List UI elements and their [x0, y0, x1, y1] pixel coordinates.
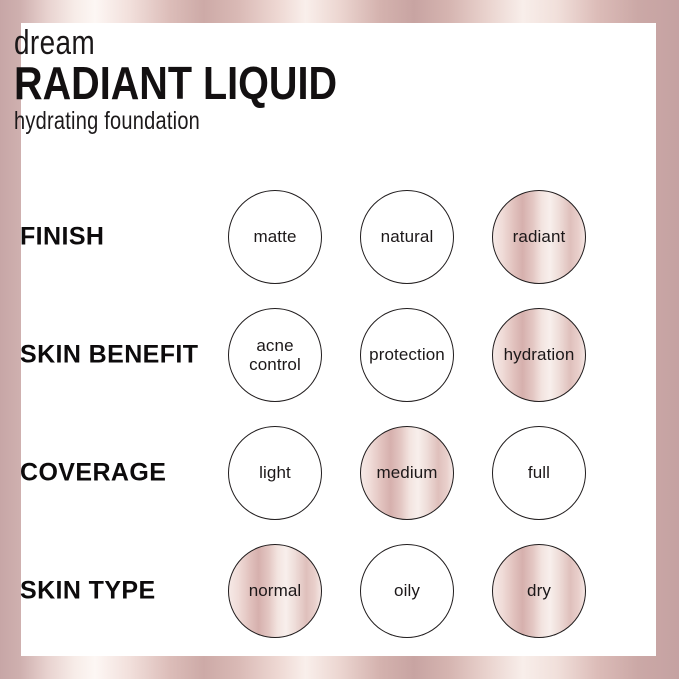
attribute-row: SKIN BENEFITacne controlprotectionhydrat… [0, 296, 635, 414]
attribute-grid: FINISHmattenaturalradiantSKIN BENEFITacn… [0, 178, 635, 650]
attribute-option-label: hydration [500, 345, 579, 364]
attribute-row-label: SKIN TYPE [20, 577, 156, 606]
attribute-row-label: COVERAGE [20, 459, 166, 488]
product-name-radiant-liquid: RADIANT LIQUID [14, 59, 375, 107]
product-infographic-frame: dream RADIANT LIQUID hydrating foundatio… [0, 0, 679, 679]
attribute-option[interactable]: medium [360, 426, 454, 520]
product-subtitle-hydrating-foundation: hydrating foundation [14, 108, 350, 134]
attribute-option-circle[interactable]: natural [360, 190, 454, 284]
attribute-option-circle-selected[interactable]: hydration [492, 308, 586, 402]
attribute-row-label: FINISH [20, 223, 104, 252]
attribute-row: COVERAGElightmediumfull [0, 414, 635, 532]
attribute-option[interactable]: dry [492, 544, 586, 638]
attribute-option-circle[interactable]: acne control [228, 308, 322, 402]
attribute-option[interactable]: natural [360, 190, 454, 284]
product-title-block: dream RADIANT LIQUID hydrating foundatio… [14, 26, 434, 134]
attribute-option-circle[interactable]: full [492, 426, 586, 520]
attribute-option-label: normal [245, 581, 306, 600]
attribute-option[interactable]: normal [228, 544, 322, 638]
attribute-option-label: matte [249, 227, 300, 246]
attribute-option-circle[interactable]: protection [360, 308, 454, 402]
attribute-row: SKIN TYPEnormaloilydry [0, 532, 635, 650]
attribute-option-circle-selected[interactable]: radiant [492, 190, 586, 284]
attribute-option-label: dry [523, 581, 555, 600]
attribute-option[interactable]: acne control [228, 308, 322, 402]
attribute-option-label: radiant [509, 227, 570, 246]
attribute-option-circle-selected[interactable]: medium [360, 426, 454, 520]
attribute-row: FINISHmattenaturalradiant [0, 178, 635, 296]
attribute-option-label: full [524, 463, 554, 482]
attribute-option-label: acne control [245, 336, 305, 374]
attribute-option[interactable]: full [492, 426, 586, 520]
attribute-option-circle-selected[interactable]: dry [492, 544, 586, 638]
attribute-row-label: SKIN BENEFIT [20, 341, 198, 370]
attribute-option[interactable]: protection [360, 308, 454, 402]
attribute-option[interactable]: hydration [492, 308, 586, 402]
attribute-option-circle[interactable]: light [228, 426, 322, 520]
attribute-option-circle[interactable]: matte [228, 190, 322, 284]
attribute-option-circle-selected[interactable]: normal [228, 544, 322, 638]
brand-name-dream: dream [14, 26, 358, 61]
attribute-option[interactable]: oily [360, 544, 454, 638]
attribute-option-label: light [255, 463, 295, 482]
attribute-option[interactable]: radiant [492, 190, 586, 284]
attribute-option-circle[interactable]: oily [360, 544, 454, 638]
attribute-option-label: oily [390, 581, 424, 600]
attribute-option-label: medium [372, 463, 441, 482]
attribute-option[interactable]: matte [228, 190, 322, 284]
attribute-option-label: natural [377, 227, 438, 246]
attribute-option-label: protection [365, 345, 449, 364]
attribute-option[interactable]: light [228, 426, 322, 520]
